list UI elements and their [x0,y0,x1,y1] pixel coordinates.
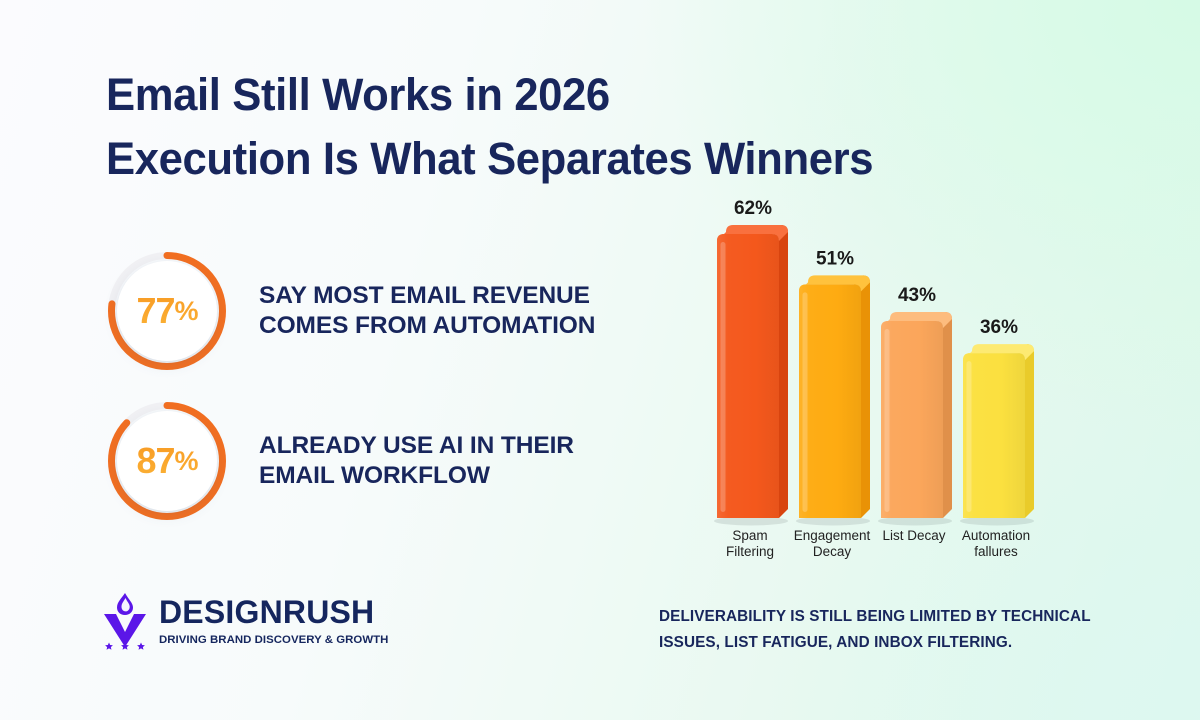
donut-number: 77 [136,290,174,332]
bar-front-face [881,321,943,518]
stat-row-ai-workflow: 87% ALREADY USE AI IN THEIR EMAIL WORKFL… [104,398,574,524]
bar-4: 36%Automationfallures [960,317,1034,559]
bar-highlight [885,329,890,512]
bar-value-label: 36% [980,317,1018,338]
percent-sign: % [175,446,198,477]
bar-category-label: fallures [974,544,1018,559]
donut-chart-77: 77% [104,248,230,374]
brand-name: DESIGNRUSH [159,596,388,628]
stat-label-line-1: ALREADY USE AI IN THEIR [259,431,574,461]
designrush-logo[interactable]: DESIGNRUSH DRIVING BRAND DISCOVERY & GRO… [101,592,388,650]
bar-highlight [803,292,808,512]
bar-front-face [717,234,779,518]
bar-value-label: 43% [898,285,936,306]
stat-label-line-2: EMAIL WORKFLOW [259,461,574,491]
brand-tagline: DRIVING BRAND DISCOVERY & GROWTH [159,635,388,646]
bar-highlight [721,242,726,512]
bar-1: 62%SpamFiltering [714,198,788,559]
bar-value-label: 62% [734,198,772,219]
designrush-wordmark: DESIGNRUSH DRIVING BRAND DISCOVERY & GRO… [159,596,388,646]
bar-category-label: Automation [962,528,1030,543]
bar-category-label: Decay [813,544,852,559]
infographic-canvas: Email Still Works in 2026 Execution Is W… [0,0,1200,720]
percent-sign: % [175,296,198,327]
donut-value-87: 87% [104,398,230,524]
caption-line-1: DELIVERABILITY IS STILL BEING LIMITED BY… [659,604,1129,630]
headline-line-1: Email Still Works in 2026 [106,64,1066,126]
designrush-flame-mark-icon [101,592,149,650]
stat-label-ai-workflow: ALREADY USE AI IN THEIR EMAIL WORKFLOW [259,431,574,492]
bar-category-label: List Decay [882,528,945,543]
bar-chart-svg: 62%SpamFiltering51%EngagementDecay43%Lis… [690,196,1090,568]
stat-label-line-2: COMES FROM AUTOMATION [259,311,595,341]
bar-category-label: Engagement [794,528,871,543]
bar-3: 43%List Decay [878,285,952,543]
chart-caption: DELIVERABILITY IS STILL BEING LIMITED BY… [659,604,1129,657]
headline-line-2: Execution Is What Separates Winners [106,128,1066,190]
bar-front-face [963,353,1025,518]
bar-value-label: 51% [816,248,854,269]
donut-value-77: 77% [104,248,230,374]
bar-category-label: Filtering [726,544,774,559]
page-title: Email Still Works in 2026 Execution Is W… [106,64,1096,190]
stat-label-automation-revenue: SAY MOST EMAIL REVENUE COMES FROM AUTOMA… [259,281,595,342]
bar-front-face [799,284,861,518]
donut-chart-87: 87% [104,398,230,524]
bar-category-label: Spam [732,528,767,543]
caption-line-2: ISSUES, LIST FATIGUE, AND INBOX FILTERIN… [659,630,1129,656]
bar-2: 51%EngagementDecay [794,248,871,559]
stat-row-automation-revenue: 77% SAY MOST EMAIL REVENUE COMES FROM AU… [104,248,595,374]
donut-number: 87 [136,440,174,482]
bar-chart: 62%SpamFiltering51%EngagementDecay43%Lis… [690,196,1090,568]
stat-label-line-1: SAY MOST EMAIL REVENUE [259,281,595,311]
bar-highlight [967,361,972,512]
